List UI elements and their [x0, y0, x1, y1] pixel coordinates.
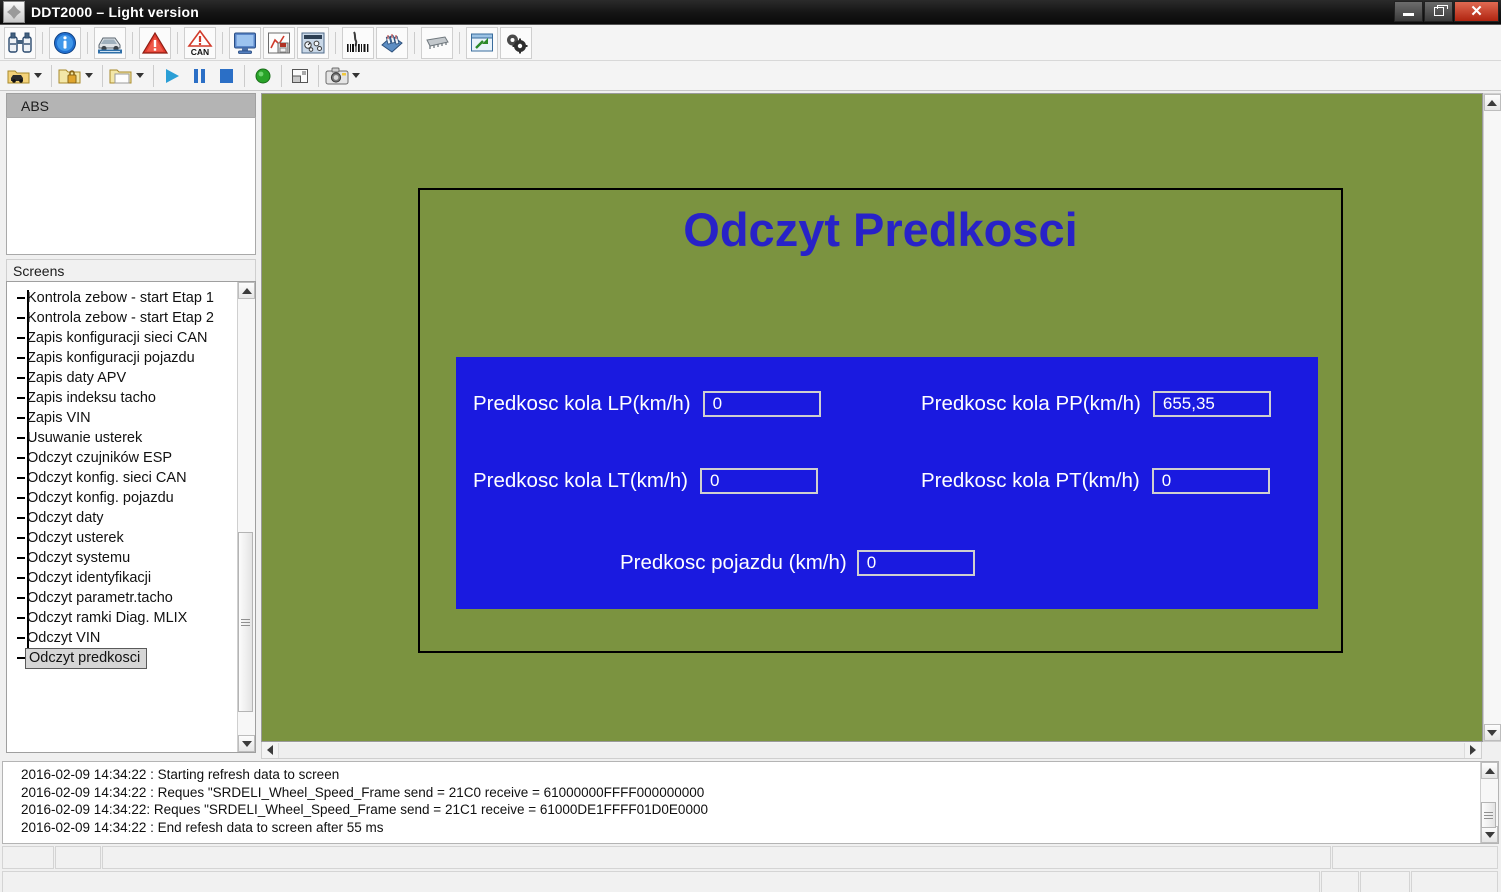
- tree-branch-icon: [17, 317, 25, 319]
- screen-title: Odczyt Predkosci: [420, 202, 1341, 257]
- gauges-icon: [301, 32, 325, 54]
- wheel-speed-pt-value[interactable]: 0: [1152, 468, 1270, 494]
- arrow-up-icon: [1487, 100, 1497, 106]
- toolbar-separator: [244, 65, 245, 87]
- ecu-connector-icon-button[interactable]: [376, 27, 408, 59]
- play-icon: [162, 67, 182, 85]
- tree-branch-icon: [17, 497, 25, 499]
- scroll-down-button[interactable]: [238, 735, 255, 752]
- arrow-left-icon: [267, 745, 273, 755]
- chip-icon-button[interactable]: [421, 27, 453, 59]
- field-wheel-speed-lt: Predkosc kola LT(km/h) 0: [473, 468, 818, 494]
- tree-item-label: Odczyt VIN: [27, 630, 100, 646]
- tree-item-label: Odczyt usterek: [27, 530, 124, 546]
- scroll-track[interactable]: [1484, 111, 1501, 724]
- folder-icon: [109, 66, 133, 86]
- field-label: Predkosc pojazdu (km/h): [620, 551, 847, 575]
- tree-item-label: Odczyt konfig. sieci CAN: [27, 470, 187, 486]
- screen-canvas[interactable]: Odczyt Predkosci Predkosc kola LP(km/h) …: [261, 93, 1483, 742]
- warning-icon: [142, 31, 168, 55]
- tree-branch-icon: [17, 417, 25, 419]
- toolbar-separator: [153, 65, 154, 87]
- gears-icon: [504, 31, 528, 55]
- toolbar-separator: [459, 32, 460, 54]
- tree-item-label: Kontrola zebow - start Etap 2: [27, 310, 214, 326]
- main-area: ABS Screens Kontrola zebow - start Etap …: [0, 91, 1501, 759]
- tree-item[interactable]: Odczyt systemu: [17, 548, 237, 568]
- gauges-icon-button[interactable]: [297, 27, 329, 59]
- toolbar-separator: [335, 32, 336, 54]
- scroll-down-button[interactable]: [1481, 826, 1498, 843]
- toolbar-separator: [87, 32, 88, 54]
- scroll-left-button[interactable]: [262, 743, 278, 758]
- open-vehicle-folder-button[interactable]: [6, 64, 32, 88]
- tree-item[interactable]: Odczyt identyfikacji: [17, 568, 237, 588]
- scroll-down-button[interactable]: [1484, 724, 1501, 741]
- folder-vehicle-icon: [7, 66, 31, 86]
- tree-item[interactable]: Zapis konfiguracji sieci CAN: [17, 328, 237, 348]
- scroll-track[interactable]: [238, 299, 255, 735]
- status-cell: [1321, 871, 1359, 892]
- tree-branch-icon: [17, 397, 25, 399]
- log-panel[interactable]: 2016-02-09 14:34:22 : Starting refresh d…: [2, 761, 1499, 844]
- camera-icon: [325, 66, 349, 86]
- field-label: Predkosc kola LP(km/h): [473, 392, 691, 416]
- field-label: Predkosc kola PT(km/h): [921, 469, 1140, 493]
- wheel-speed-lp-value[interactable]: 0: [703, 391, 821, 417]
- arrow-right-icon: [1470, 745, 1476, 755]
- toolbar-separator: [318, 65, 319, 87]
- barcode-icon-button[interactable]: [342, 27, 374, 59]
- arrow-up-icon: [242, 288, 252, 294]
- action-toolbar: [0, 61, 1501, 91]
- arrow-down-icon: [1485, 832, 1495, 838]
- tree-branch-icon: [17, 537, 25, 539]
- scroll-right-button[interactable]: [1465, 743, 1481, 758]
- wheel-speed-pp-value[interactable]: 655,35: [1153, 391, 1271, 417]
- screens-panel: Kontrola zebow - start Etap 1Kontrola ze…: [6, 281, 256, 753]
- screen-frame: Odczyt Predkosci Predkosc kola LP(km/h) …: [418, 188, 1343, 653]
- tree-item[interactable]: Kontrola zebow - start Etap 2: [17, 308, 237, 328]
- toolbar-separator: [414, 32, 415, 54]
- status-bar-top: [0, 844, 1501, 870]
- toolbar-separator: [102, 65, 103, 87]
- sidebar: ABS Screens Kontrola zebow - start Etap …: [0, 91, 259, 759]
- tree-item-label: Zapis konfiguracji pojazdu: [27, 350, 195, 366]
- tree-item[interactable]: Odczyt predkosci: [17, 648, 237, 668]
- canvas-horizontal-scrollbar[interactable]: [261, 742, 1482, 759]
- binoculars-icon: [8, 32, 32, 54]
- tree-branch-icon: [17, 617, 25, 619]
- open-folder-caret-icon[interactable]: [136, 73, 144, 78]
- tree-branch-icon: [17, 357, 25, 359]
- window-layout-button[interactable]: [287, 64, 313, 88]
- arrow-up-icon: [1485, 768, 1495, 774]
- log-line: 2016-02-09 14:34:22: Reques "SRDELI_Whee…: [21, 801, 1480, 819]
- can-warning-icon-button[interactable]: CAN: [184, 27, 216, 59]
- scroll-up-button[interactable]: [238, 282, 255, 299]
- window-controls: ✕: [1393, 1, 1499, 22]
- tree-item[interactable]: Odczyt parametr.tacho: [17, 588, 237, 608]
- log-line: 2016-02-09 14:34:22 : Reques "SRDELI_Whe…: [21, 784, 1480, 802]
- graph-save-icon-button[interactable]: [263, 27, 295, 59]
- log-lines: 2016-02-09 14:34:22 : Starting refresh d…: [3, 762, 1480, 843]
- tree-item[interactable]: Zapis indeksu tacho: [17, 388, 237, 408]
- toolbar-separator: [42, 32, 43, 54]
- app-diamond-icon: [3, 1, 25, 23]
- stop-button[interactable]: [213, 64, 239, 88]
- field-wheel-speed-pp: Predkosc kola PP(km/h) 655,35: [921, 391, 1271, 417]
- vehicle-icon: [97, 32, 123, 54]
- tree-item-label: Odczyt predkosci: [25, 648, 147, 669]
- status-cell: [55, 846, 101, 869]
- tree-branch-icon: [17, 577, 25, 579]
- tree-item[interactable]: Odczyt konfig. pojazdu: [17, 488, 237, 508]
- field-vehicle-speed: Predkosc pojazdu (km/h) 0: [620, 550, 975, 576]
- tree-item-label: Odczyt systemu: [27, 550, 130, 566]
- scroll-thumb-grip-icon: [1484, 810, 1493, 821]
- tree-branch-icon: [17, 297, 25, 299]
- play-button[interactable]: [159, 64, 185, 88]
- canvas-wrap: Odczyt Predkosci Predkosc kola LP(km/h) …: [261, 93, 1501, 742]
- status-cell: [2, 846, 54, 869]
- status-cell: [102, 846, 1331, 869]
- scroll-up-button[interactable]: [1481, 762, 1498, 779]
- tree-item[interactable]: Odczyt czujników ESP: [17, 448, 237, 468]
- info-icon-button[interactable]: [49, 27, 81, 59]
- screens-tree-scrollbar[interactable]: [237, 282, 255, 752]
- window-layout-icon: [290, 67, 310, 85]
- tree-item[interactable]: Kontrola zebow - start Etap 1: [17, 288, 237, 308]
- ecu-header: ABS: [6, 93, 256, 117]
- tree-branch-icon: [17, 657, 25, 659]
- tree-item-label: Odczyt konfig. pojazdu: [27, 490, 174, 506]
- tree-branch-icon: [17, 517, 25, 519]
- green-led-icon: [253, 67, 273, 85]
- tree-item-label: Odczyt parametr.tacho: [27, 590, 173, 606]
- field-wheel-speed-pt: Predkosc kola PT(km/h) 0: [921, 468, 1270, 494]
- monitor-icon-button[interactable]: [229, 27, 261, 59]
- ecu-panel[interactable]: [6, 117, 256, 255]
- vehicle-speed-value[interactable]: 0: [857, 550, 975, 576]
- tree-item[interactable]: Zapis VIN: [17, 408, 237, 428]
- tree-branch-icon: [17, 437, 25, 439]
- tree-item[interactable]: Zapis daty APV: [17, 368, 237, 388]
- screens-tree[interactable]: Kontrola zebow - start Etap 1Kontrola ze…: [7, 282, 237, 752]
- screenshot-button[interactable]: [324, 64, 350, 88]
- vehicle-icon-button[interactable]: [94, 27, 126, 59]
- tree-item-label: Odczyt ramki Diag. MLIX: [27, 610, 187, 626]
- stop-icon: [216, 67, 236, 85]
- can-warning-icon: CAN: [187, 30, 213, 56]
- tree-item[interactable]: Zapis konfiguracji pojazdu: [17, 348, 237, 368]
- arrow-down-icon: [1487, 730, 1497, 736]
- ecu-connector-icon: [379, 31, 405, 55]
- tree-item-label: Odczyt czujników ESP: [27, 450, 172, 466]
- barcode-icon: [345, 31, 371, 55]
- tree-item-label: Usuwanie usterek: [27, 430, 142, 446]
- tree-branch-icon: [17, 557, 25, 559]
- scroll-thumb[interactable]: [238, 532, 253, 712]
- status-cell: [2, 871, 1320, 892]
- scroll-thumb[interactable]: [1481, 802, 1496, 828]
- status-bar-bottom: [0, 870, 1501, 892]
- folder-lock-icon: [58, 66, 82, 86]
- toolbar-separator: [51, 65, 52, 87]
- tree-branch-icon: [17, 337, 25, 339]
- window-title: DDT2000 – Light version: [31, 4, 199, 20]
- tree-item-label: Odczyt identyfikacji: [27, 570, 151, 586]
- open-vehicle-folder-caret-icon[interactable]: [34, 73, 42, 78]
- tree-item[interactable]: Odczyt usterek: [17, 528, 237, 548]
- main-toolbar: CAN: [0, 25, 1501, 61]
- tree-branch-icon: [17, 637, 25, 639]
- tree-item-label: Zapis konfiguracji sieci CAN: [27, 330, 208, 346]
- tree-item[interactable]: Odczyt VIN: [17, 628, 237, 648]
- open-secure-folder-caret-icon[interactable]: [85, 73, 93, 78]
- scroll-track[interactable]: [1481, 779, 1498, 826]
- open-folder-button[interactable]: [108, 64, 134, 88]
- screen-area: Odczyt Predkosci Predkosc kola LP(km/h) …: [259, 91, 1501, 759]
- status-cell: [1332, 846, 1498, 869]
- tree-item-label: Kontrola zebow - start Etap 1: [27, 290, 214, 306]
- tree-item-label: Odczyt daty: [27, 510, 104, 526]
- scroll-up-button[interactable]: [1484, 94, 1501, 111]
- scroll-track[interactable]: [278, 743, 1465, 758]
- graph-save-icon: [267, 31, 291, 55]
- speed-panel: Predkosc kola LP(km/h) 0 Predkosc kola P…: [456, 357, 1318, 609]
- maximize-button[interactable]: [1424, 1, 1453, 22]
- screens-header: Screens: [6, 259, 256, 281]
- toolbar-separator: [281, 65, 282, 87]
- tree-branch-icon: [17, 477, 25, 479]
- field-wheel-speed-lp: Predkosc kola LP(km/h) 0: [473, 391, 821, 417]
- warning-icon-button[interactable]: [139, 27, 171, 59]
- tree-item-label: Zapis VIN: [27, 410, 91, 426]
- log-line: 2016-02-09 14:34:22 : Starting refresh d…: [21, 766, 1480, 784]
- scroll-thumb-grip-icon: [241, 617, 250, 628]
- window-arrow-icon-button[interactable]: [466, 27, 498, 59]
- open-secure-folder-button[interactable]: [57, 64, 83, 88]
- pause-button[interactable]: [186, 64, 212, 88]
- status-cell: [1411, 871, 1498, 892]
- window-arrow-icon: [470, 32, 494, 54]
- status-led-indicator[interactable]: [250, 64, 276, 88]
- binoculars-icon-button[interactable]: [4, 27, 36, 59]
- field-label: Predkosc kola LT(km/h): [473, 469, 688, 493]
- toolbar-separator: [132, 32, 133, 54]
- tree-item-label: Zapis indeksu tacho: [27, 390, 156, 406]
- close-button[interactable]: ✕: [1454, 1, 1499, 22]
- monitor-icon: [233, 31, 257, 55]
- tree-branch-icon: [17, 597, 25, 599]
- toolbar-separator: [222, 32, 223, 54]
- screenshot-caret-icon[interactable]: [352, 73, 360, 78]
- info-icon: [53, 31, 77, 55]
- gears-icon-button[interactable]: [500, 27, 532, 59]
- tree-item[interactable]: Odczyt konfig. sieci CAN: [17, 468, 237, 488]
- title-bar: DDT2000 – Light version ✕: [0, 0, 1501, 25]
- wheel-speed-lt-value[interactable]: 0: [700, 468, 818, 494]
- pause-icon: [189, 67, 209, 85]
- canvas-vertical-scrollbar[interactable]: [1483, 93, 1501, 742]
- tree-item[interactable]: Odczyt ramki Diag. MLIX: [17, 608, 237, 628]
- tree-item[interactable]: Odczyt daty: [17, 508, 237, 528]
- minimize-button[interactable]: [1394, 1, 1423, 22]
- chip-icon: [424, 33, 450, 53]
- tree-branch-icon: [17, 377, 25, 379]
- tree-branch-icon: [17, 457, 25, 459]
- toolbar-separator: [177, 32, 178, 54]
- field-label: Predkosc kola PP(km/h): [921, 392, 1141, 416]
- log-line: 2016-02-09 14:34:22 : End refesh data to…: [21, 819, 1480, 837]
- tree-item-label: Zapis daty APV: [27, 370, 126, 386]
- arrow-down-icon: [242, 741, 252, 747]
- log-scrollbar[interactable]: [1480, 762, 1498, 843]
- tree-item[interactable]: Usuwanie usterek: [17, 428, 237, 448]
- status-cell: [1360, 871, 1410, 892]
- svg-text:CAN: CAN: [191, 47, 209, 56]
